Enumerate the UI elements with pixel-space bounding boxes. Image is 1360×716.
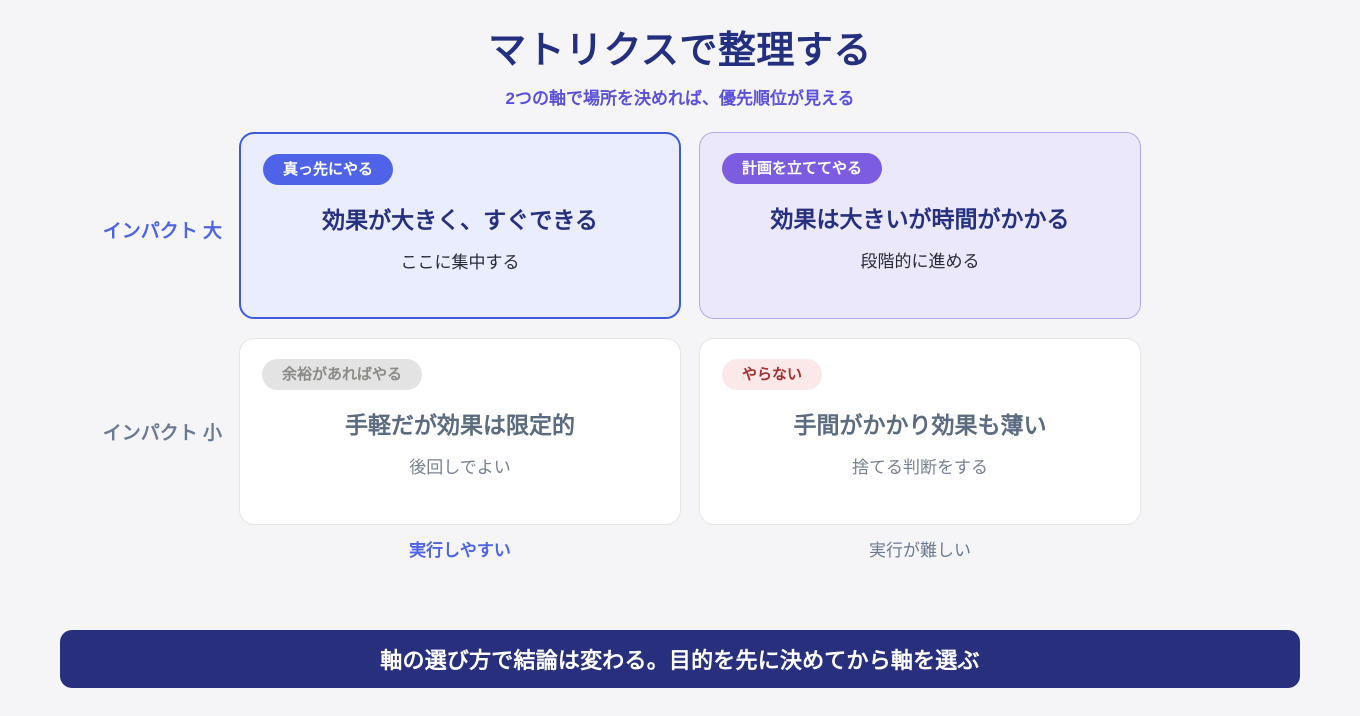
footer-banner: 軸の選び方で結論は変わる。目的を先に決めてから軸を選ぶ xyxy=(60,630,1300,688)
quadrant-card-dont-do[interactable]: やらない 手間がかかり効果も薄い 捨てる判断をする xyxy=(699,338,1141,525)
quadrant-note: ここに集中する xyxy=(401,252,520,274)
status-badge: やらない xyxy=(722,359,822,390)
column-axis-labels: 実行しやすい 実行が難しい xyxy=(239,525,1141,572)
status-badge: 真っ先にやる xyxy=(263,154,393,185)
status-badge: 余裕があればやる xyxy=(262,359,422,390)
quadrant-note: 段階的に進める xyxy=(861,251,980,273)
slide-header: マトリクスで整理する 2つの軸で場所を決めれば、優先順位が見える xyxy=(0,0,1360,110)
status-badge: 計画を立ててやる xyxy=(722,153,882,184)
page-subtitle: 2つの軸で場所を決めれば、優先順位が見える xyxy=(0,88,1360,110)
quadrant-card-if-spare-time[interactable]: 余裕があればやる 手軽だが効果は限定的 後回しでよい xyxy=(239,338,681,525)
page-title: マトリクスで整理する xyxy=(0,28,1360,76)
quadrant-title: 効果は大きいが時間がかかる xyxy=(771,205,1070,235)
quadrant-note: 捨てる判断をする xyxy=(852,457,988,479)
quadrant-card-do-first[interactable]: 真っ先にやる 効果が大きく、すぐできる ここに集中する xyxy=(239,132,681,319)
quadrant-grid: 真っ先にやる 効果が大きく、すぐできる ここに集中する 計画を立ててやる 効果は… xyxy=(239,132,1141,525)
quadrant-card-plan[interactable]: 計画を立ててやる 効果は大きいが時間がかかる 段階的に進める xyxy=(699,132,1141,319)
quadrant-title: 手間がかかり効果も薄い xyxy=(794,411,1047,441)
matrix-slide: マトリクスで整理する 2つの軸で場所を決めれば、優先順位が見える インパクト 大… xyxy=(0,0,1360,716)
row-label-low-impact: インパクト 小 xyxy=(2,418,222,445)
quadrant-title: 手軽だが効果は限定的 xyxy=(345,411,575,441)
quadrant-title: 効果が大きく、すぐできる xyxy=(322,206,598,236)
matrix-container: インパクト 大 インパクト 小 真っ先にやる 効果が大きく、すぐできる ここに集… xyxy=(0,132,1360,572)
quadrant-note: 後回しでよい xyxy=(409,457,511,479)
row-axis-labels: インパクト 大 インパクト 小 xyxy=(0,132,240,527)
row-label-high-impact: インパクト 大 xyxy=(2,216,222,243)
column-label-hard: 実行が難しい xyxy=(699,536,1141,561)
column-label-easy: 実行しやすい xyxy=(239,536,681,561)
